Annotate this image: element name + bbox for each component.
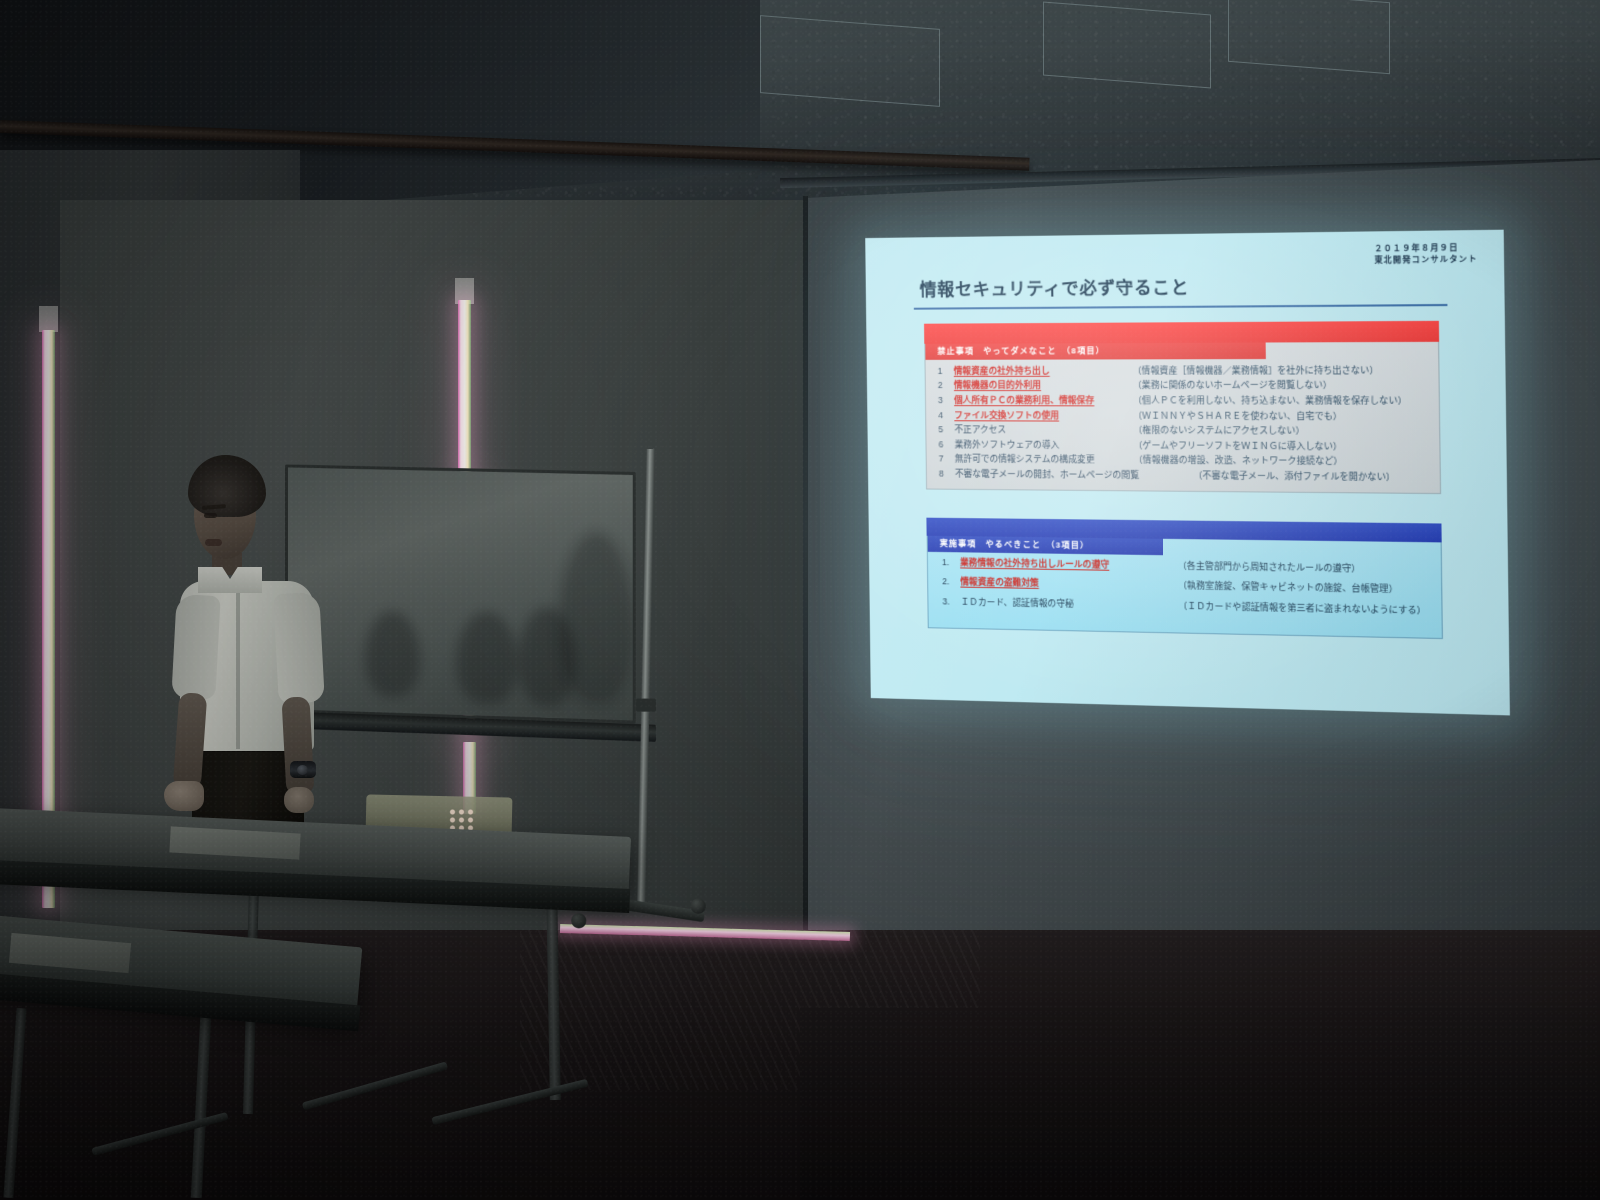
row-item: 情報資産の社外持ち出し (954, 365, 1133, 377)
ceiling-access-panel (760, 15, 940, 107)
row-item: ＩＤカード、認証情報の守秘 (961, 597, 1179, 612)
row-note: （権限のないシステムにアクセスしない） (1133, 425, 1304, 438)
prohibited-header: 禁止事項 やってダメなこと （8項目） (925, 343, 1266, 360)
slide-organization: 東北開発コンサルタント (1374, 254, 1477, 267)
row-item: 不正アクセス (954, 424, 1133, 436)
presenter-hair (188, 455, 266, 517)
audience-shadow (558, 531, 635, 704)
row-item: 個人所有ＰＣの業務利用、情報保存 (954, 395, 1133, 407)
floor-carpet-right (800, 1008, 1600, 1200)
row-item: 不審な電子メールの開封、ホームページの閲覧 (955, 469, 1194, 483)
required-panel: 実施事項 やるべきこと （3項目） 1. 業務情報の社外持ち出しルールの遵守 （… (927, 536, 1443, 639)
row-item: 情報資産の盗難対策 (960, 577, 1178, 592)
presenter-sleeve-left (171, 594, 220, 700)
presenter-hand-left (164, 781, 204, 811)
ceiling-access-panel (1228, 0, 1390, 74)
presenter-eye (204, 513, 217, 518)
whiteboard-caster (571, 913, 586, 928)
presenter-shirt-placket (236, 589, 240, 749)
slide-canvas: ２０１９年８月９日 東北開発コンサルタント 情報セキュリティで必ず守ること 禁止… (865, 230, 1510, 716)
row-number: 4 (938, 410, 954, 422)
wall-light-strip (458, 300, 471, 488)
row-number: 3. (942, 596, 960, 607)
row-note: （各主管部門から周知されたルールの遵守） (1178, 560, 1361, 574)
table-row: 4 ファイル交換ソフトの使用 （ＷＩＮＮＹやＳＨＡＲＥを使わない、自宅でも） (926, 408, 1439, 424)
prohibited-band (924, 321, 1439, 344)
row-number: 1. (942, 557, 960, 568)
row-note: （執務室施錠、保管キャビネットの施錠、台帳管理） (1178, 580, 1398, 595)
row-note: （不審な電子メール、添付ファイルを開かない） (1193, 470, 1395, 484)
row-item: 業務情報の社外持ち出しルールの遵守 (960, 557, 1178, 571)
row-item: 無許可での情報システムの構成変更 (955, 454, 1134, 467)
row-item: 業務外ソフトウェアの導入 (955, 439, 1134, 452)
whiteboard-height-clamp (636, 699, 656, 712)
wristwatch-face (297, 765, 308, 775)
wall-seam (803, 196, 808, 1024)
row-note: （ＩＤカードや認証情報を第三者に盗まれないようにする） (1178, 601, 1426, 617)
prohibited-panel: 禁止事項 やってダメなこと （8項目） 1 情報資産の社外持ち出し （情報資産［… (924, 342, 1441, 494)
row-note: （ＷＩＮＮＹやＳＨＡＲＥを使わない、自宅でも） (1133, 410, 1342, 422)
row-item: 情報機器の目的外利用 (954, 380, 1133, 392)
row-number: 8 (939, 468, 955, 480)
presenter-forearm-right (281, 696, 314, 795)
chair-perforations (448, 808, 474, 830)
row-item: ファイル交換ソフトの使用 (954, 410, 1133, 422)
row-number: 2 (938, 380, 954, 392)
row-number: 2. (942, 576, 960, 587)
audience-shadow (456, 611, 518, 705)
table-row: 8 不審な電子メールの開封、ホームページの閲覧 （不審な電子メール、添付ファイル… (927, 467, 1440, 486)
slide-title: 情報セキュリティで必ず守ること (894, 274, 1481, 301)
row-number: 6 (938, 439, 954, 451)
row-note: （情報機器の増設、改造、ネットワーク接続など） (1134, 455, 1343, 468)
row-note: （情報資産［情報機器／業務情報］を社外に持ち出さない） (1133, 365, 1379, 377)
presenter-sleeve-right (273, 592, 325, 704)
row-number: 1 (938, 366, 954, 378)
wall-light-strip (42, 330, 55, 840)
ceiling-access-panel (1043, 2, 1211, 89)
row-note: （個人ＰＣを利用しない、持ち込まない、業務情報を保存しない） (1133, 395, 1407, 407)
whiteboard-caster (691, 899, 706, 914)
table-row: 3 個人所有ＰＣの業務利用、情報保存 （個人ＰＣを利用しない、持ち込まない、業務… (926, 393, 1439, 409)
row-note: （ゲームやフリーソフトをＷＩＮＧに導入しない） (1133, 440, 1342, 453)
light-fixture-cap (39, 306, 58, 332)
audience-shadow (365, 610, 420, 697)
table-row: 2 情報機器の目的外利用 （業務に関係のないホームページを閲覧しない） (926, 378, 1439, 393)
presenter-mouth (205, 539, 222, 546)
projected-slide: ２０１９年８月９日 東北開発コンサルタント 情報セキュリティで必ず守ること 禁止… (865, 230, 1510, 716)
presenter (150, 455, 360, 855)
row-number: 5 (938, 424, 954, 436)
slide-meta: ２０１９年８月９日 東北開発コンサルタント (1374, 243, 1478, 267)
presenter-hand-right (284, 787, 314, 813)
seminar-room-scene: ２０１９年８月９日 東北開発コンサルタント 情報セキュリティで必ず守ること 禁止… (0, 0, 1600, 1200)
row-number: 3 (938, 395, 954, 407)
row-number: 7 (939, 454, 955, 466)
table-row: 1 情報資産の社外持ち出し （情報資産［情報機器／業務情報］を社外に持ち出さない… (926, 363, 1439, 379)
prohibited-rows: 1 情報資産の社外持ち出し （情報資産［情報機器／業務情報］を社外に持ち出さない… (925, 359, 1439, 486)
slide-title-rule (914, 304, 1448, 310)
row-note: （業務に関係のないホームページを閲覧しない） (1133, 380, 1332, 392)
